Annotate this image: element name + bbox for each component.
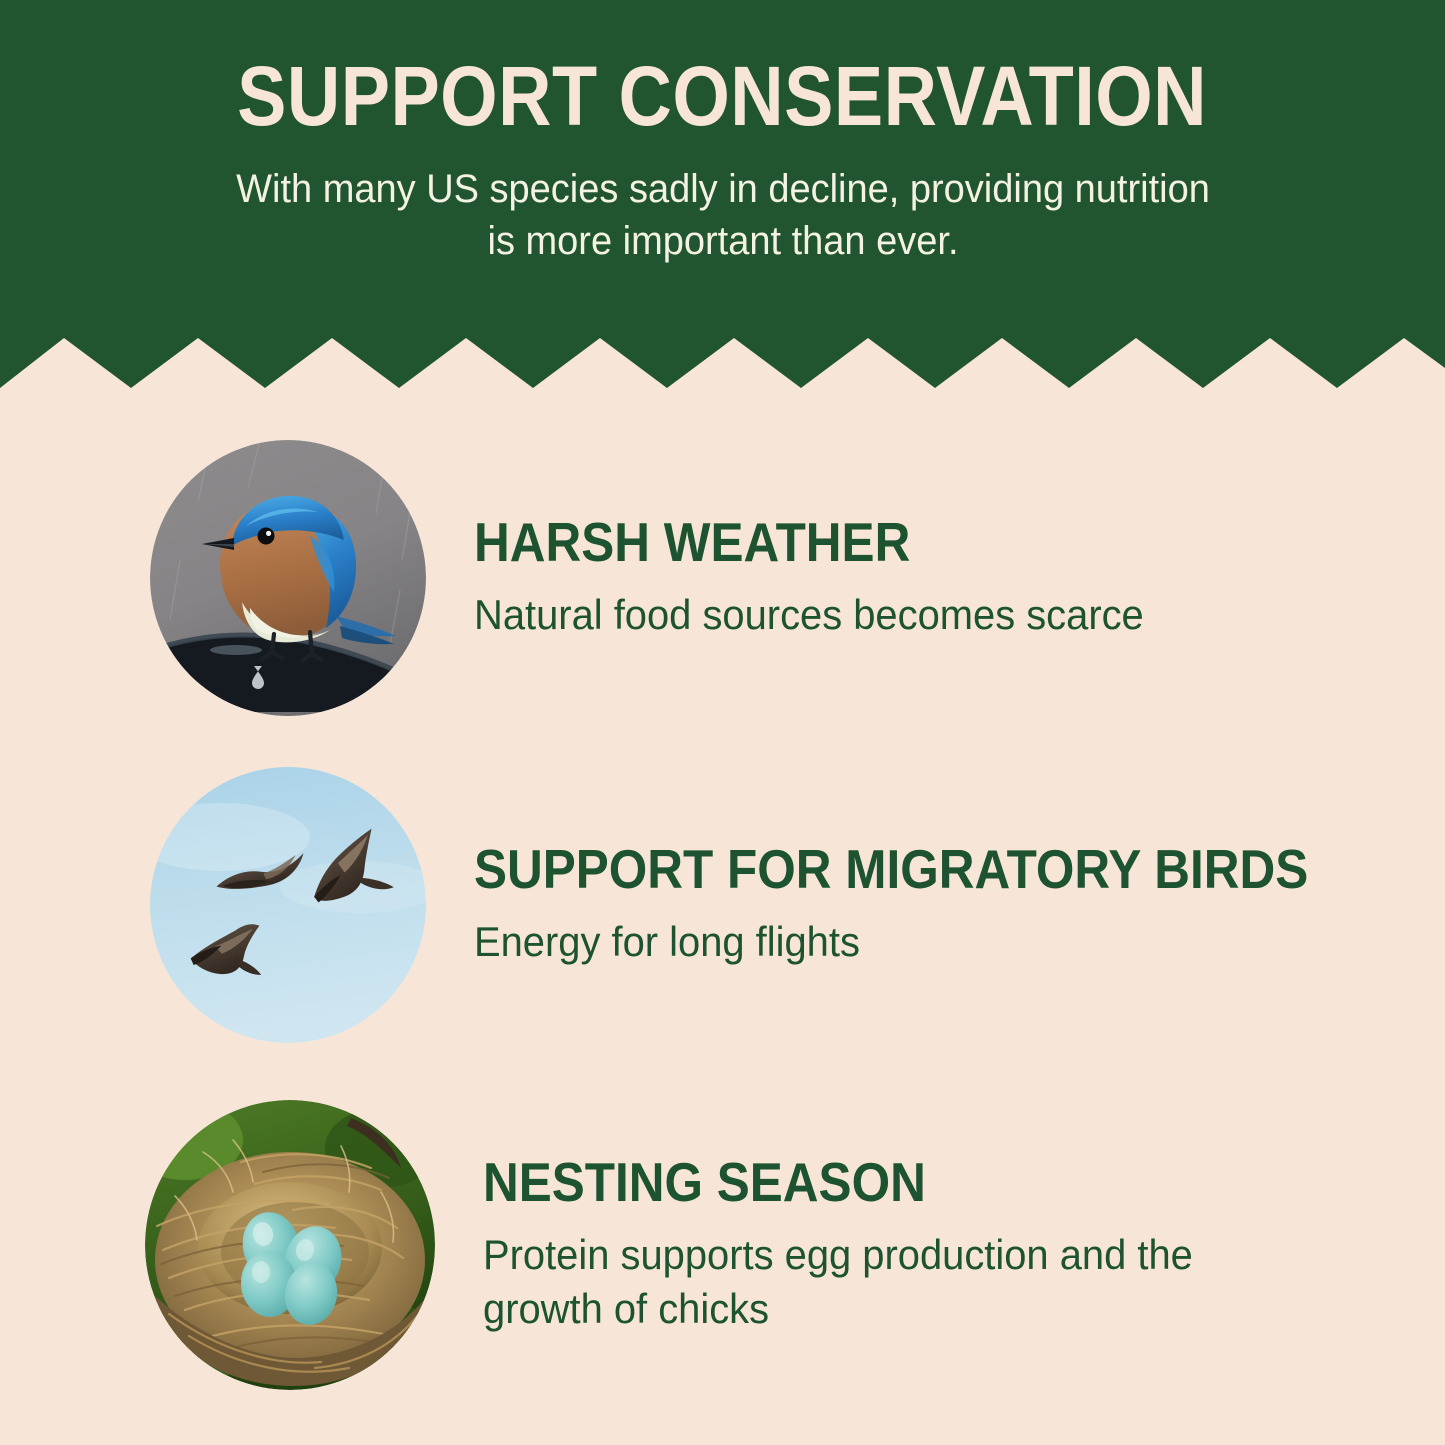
feature-item-nesting-season: NESTING SEASON Protein supports egg prod…: [0, 1100, 1445, 1390]
nest-eggs-thumbnail: [145, 1100, 435, 1390]
feature-description: Natural food sources becomes scarce: [474, 588, 1144, 642]
feature-text-block: SUPPORT FOR MIGRATORY BIRDS Energy for l…: [474, 842, 1441, 969]
migratory-birds-photo-icon: [150, 767, 426, 1043]
eastern-bluebird-photo-icon: [150, 440, 426, 716]
feature-list: HARSH WEATHER Natural food sources becom…: [0, 390, 1445, 1445]
header-content: SUPPORT CONSERVATION With many US specie…: [0, 0, 1445, 340]
page-subtitle: With many US species sadly in decline, p…: [219, 163, 1226, 269]
bird-nest-with-eggs-photo-icon: [145, 1100, 435, 1390]
zigzag-divider-icon: [0, 330, 1445, 390]
feature-title: HARSH WEATHER: [474, 515, 1109, 570]
feature-description: Protein supports egg production and the …: [483, 1228, 1281, 1336]
feature-item-migratory-birds: SUPPORT FOR MIGRATORY BIRDS Energy for l…: [0, 765, 1445, 1045]
flying-birds-thumbnail: [150, 767, 426, 1043]
feature-item-harsh-weather: HARSH WEATHER Natural food sources becom…: [0, 438, 1445, 718]
feature-text-block: HARSH WEATHER Natural food sources becom…: [474, 515, 1219, 642]
bluebird-thumbnail: [150, 440, 426, 716]
feature-title: NESTING SEASON: [483, 1155, 1239, 1210]
header-banner: SUPPORT CONSERVATION With many US specie…: [0, 0, 1445, 390]
feature-description: Energy for long flights: [474, 915, 1272, 969]
feature-text-block: NESTING SEASON Protein supports egg prod…: [483, 1155, 1363, 1336]
feature-title: SUPPORT FOR MIGRATORY BIRDS: [474, 842, 1308, 897]
page-title: SUPPORT CONSERVATION: [238, 56, 1208, 137]
